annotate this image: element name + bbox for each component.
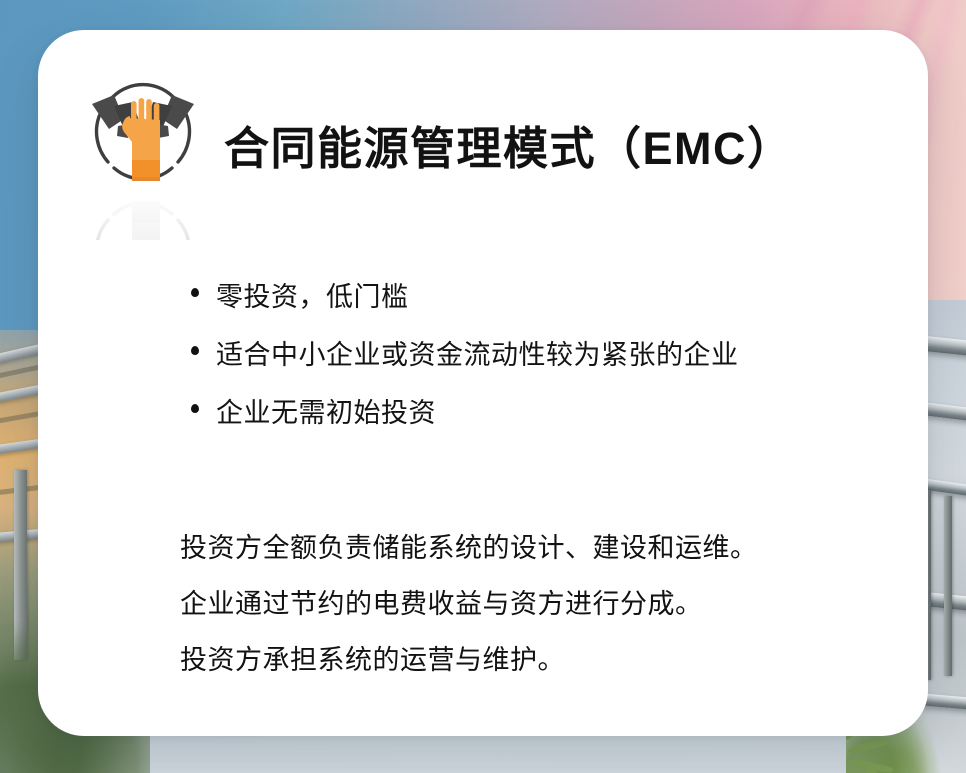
card-header: 合同能源管理模式（EMC） (84, 76, 794, 231)
description-paragraphs: 投资方全额负责储能系统的设计、建设和运维。 企业通过节约的电费收益与资方进行分成… (180, 533, 900, 701)
list-item: 零投资，低门槛 (186, 283, 886, 312)
hands-protect-circle-icon (84, 76, 202, 194)
content-card: 合同能源管理模式（EMC） 零投资，低门槛 适合中小企业或资金流动性较为紧张的企… (38, 30, 928, 736)
solar-post (944, 496, 952, 676)
list-item-label: 企业无需初始投资 (216, 398, 436, 428)
bullet-dot-icon (191, 288, 199, 297)
list-item-label: 零投资，低门槛 (216, 282, 409, 312)
logo-container (84, 76, 202, 231)
page-title: 合同能源管理模式（EMC） (224, 112, 794, 177)
bullet-dot-icon (191, 404, 199, 413)
paragraph-line: 投资方承担系统的运营与维护。 (180, 645, 900, 675)
list-item: 企业无需初始投资 (186, 399, 886, 428)
paragraph-line: 投资方全额负责储能系统的设计、建设和运维。 (180, 533, 900, 563)
paragraph-line: 企业通过节约的电费收益与资方进行分成。 (180, 589, 900, 619)
bullet-dot-icon (191, 346, 199, 355)
plant-leaf-icon (847, 738, 891, 754)
list-item-label: 适合中小企业或资金流动性较为紧张的企业 (216, 340, 739, 370)
list-item: 适合中小企业或资金流动性较为紧张的企业 (186, 341, 886, 370)
screenshot-stage: 合同能源管理模式（EMC） 零投资，低门槛 适合中小企业或资金流动性较为紧张的企… (0, 0, 966, 773)
logo-reflection (84, 188, 202, 240)
feature-bullet-list: 零投资，低门槛 适合中小企业或资金流动性较为紧张的企业 企业无需初始投资 (186, 283, 886, 457)
